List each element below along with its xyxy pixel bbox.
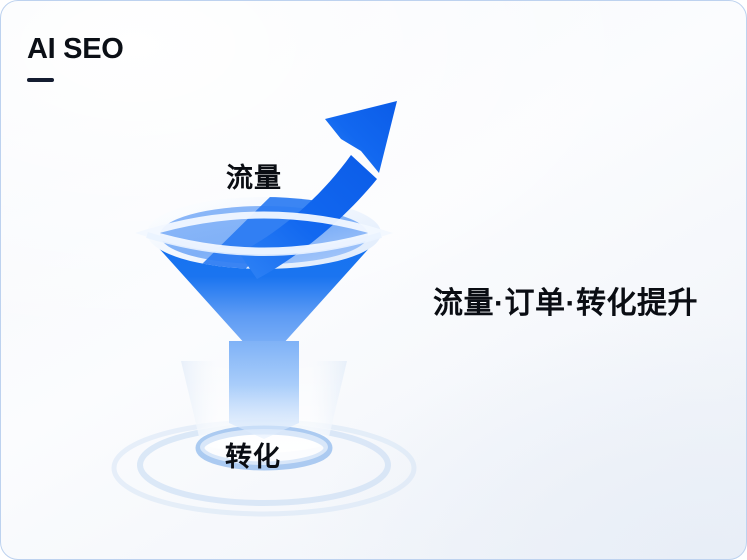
label-conversion: 转化 [225,435,281,474]
tagline-text: 流量·订单·转化提升 [433,278,698,322]
page-title: AI SEO [27,35,124,64]
header: AI SEO [27,35,124,82]
label-traffic: 流量 [226,156,282,195]
title-underline-rule [27,78,54,82]
poster-card: AI SEO 流量·订单·转化提升 [0,0,747,560]
